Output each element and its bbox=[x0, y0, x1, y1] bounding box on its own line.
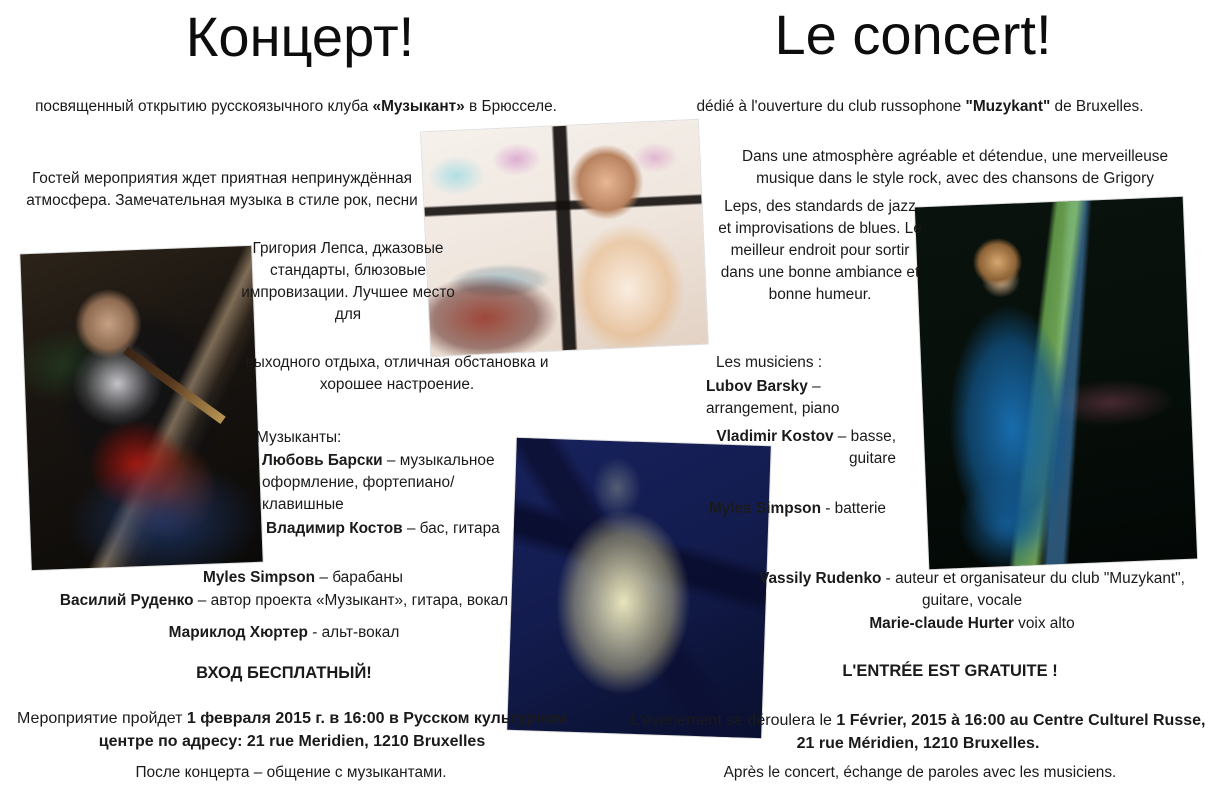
subtitle-french-prefix: dédié à l'ouverture du club russophone bbox=[696, 98, 965, 115]
musician-row-fr-4: Marie-claude Hurter voix alto bbox=[756, 613, 1188, 635]
subtitle-french-club: "Muzykant" bbox=[966, 98, 1051, 115]
musicians-heading-french: Les musiciens : bbox=[716, 352, 926, 374]
musician-name-ru-2: Myles Simpson bbox=[203, 569, 315, 586]
musician-row-ru-3: Василий Руденко – автор проекта «Музыкан… bbox=[6, 590, 562, 612]
pianist-photo bbox=[915, 197, 1197, 569]
musician-name-fr-2: Myles Simpson bbox=[709, 500, 821, 517]
concert-poster: Концерт! посвященный открытию русскоязыч… bbox=[0, 0, 1213, 798]
musician-name-ru-0: Любовь Барски bbox=[262, 452, 383, 469]
drummer-photo bbox=[421, 120, 708, 356]
musician-name-ru-4: Мариклод Хюртер bbox=[169, 624, 308, 641]
event-details-russian: Мероприятие пройдет 1 февраля 2015 г. в … bbox=[2, 708, 582, 753]
musician-role-ru-1: – бас, гитара bbox=[407, 520, 500, 537]
musician-role-ru-3: – автор проекта «Музыкант», гитара, вока… bbox=[194, 592, 509, 609]
musician-role-fr-3: - auteur et organisateur du club "Muzyka… bbox=[881, 570, 1185, 609]
musician-name-fr-4: Marie-claude Hurter bbox=[869, 615, 1014, 632]
musician-name-fr-1: Vladimir Kostov bbox=[716, 428, 833, 445]
musician-role-fr-4: voix alto bbox=[1014, 615, 1075, 632]
page-title-french: Le concert! bbox=[618, 6, 1208, 65]
free-entry-french: L'ENTRÉE EST GRATUITE ! bbox=[700, 660, 1200, 683]
musician-role-fr-1: – basse, guitare bbox=[834, 428, 896, 467]
musician-row-fr-1: Vladimir Kostov – basse, guitare bbox=[706, 426, 896, 470]
musician-row-ru-2: Myles Simpson – барабаны bbox=[88, 567, 518, 589]
subtitle-russian-suffix: в Брюсселе. bbox=[465, 98, 557, 115]
musician-row-ru-4: Мариклод Хюртер - альт-вокал bbox=[6, 622, 562, 644]
subtitle-russian: посвященный открытию русскоязычного клуб… bbox=[18, 96, 574, 118]
musician-row-ru-0: Любовь Барски – музыкальное оформление, … bbox=[262, 450, 520, 516]
intro-paragraph-french-2: Leps, des standards de jazz et improvisa… bbox=[716, 196, 924, 305]
blues-guitarist-photo bbox=[507, 438, 771, 738]
musician-name-ru-3: Василий Руденко bbox=[60, 592, 194, 609]
after-concert-french: Après le concert, échange de paroles ave… bbox=[640, 762, 1200, 784]
event-details-french: L'événement se déroulera le 1 Février, 2… bbox=[628, 710, 1208, 755]
subtitle-french: dédié à l'ouverture du club russophone "… bbox=[640, 96, 1200, 118]
musician-name-fr-3: Vassily Rudenko bbox=[759, 570, 881, 587]
musician-row-ru-1: Владимир Костов – бас, гитара bbox=[266, 518, 516, 540]
subtitle-french-suffix: de Bruxelles. bbox=[1050, 98, 1143, 115]
musician-row-fr-2: Myles Simpson - batterie bbox=[706, 498, 886, 520]
page-title-russian: Концерт! bbox=[0, 8, 600, 67]
musicians-heading-russian: Музыканты: bbox=[256, 427, 516, 449]
subtitle-russian-prefix: посвященный открытию русскоязычного клуб… bbox=[35, 98, 372, 115]
musician-role-ru-4: - альт-вокал bbox=[308, 624, 399, 641]
musician-name-ru-1: Владимир Костов bbox=[266, 520, 407, 537]
guitarist-photo bbox=[20, 246, 262, 570]
intro-paragraph-russian-2: Григория Лепса, джазовые стандарты, блюз… bbox=[232, 238, 464, 326]
intro-paragraph-russian-3: выходного отдыха, отличная обстановка и … bbox=[232, 352, 562, 396]
musician-role-ru-2: – барабаны bbox=[315, 569, 403, 586]
musician-row-fr-3: Vassily Rudenko - auteur et organisateur… bbox=[756, 568, 1188, 612]
musician-name-fr-0: Lubov Barsky bbox=[706, 378, 808, 395]
free-entry-russian: ВХОД БЕСПЛАТНЫЙ! bbox=[6, 662, 562, 685]
musician-role-fr-2: - batterie bbox=[821, 500, 886, 517]
subtitle-russian-club: «Музыкант» bbox=[373, 98, 465, 115]
after-concert-russian: После концерта – общение с музыкантами. bbox=[6, 762, 576, 784]
musician-row-fr-0: Lubov Barsky – arrangement, piano bbox=[706, 376, 916, 420]
event-details-french-bold: 1 Février, 2015 à 16:00 au Centre Cultur… bbox=[797, 712, 1206, 752]
intro-paragraph-french: Dans une atmosphère agréable et détendue… bbox=[712, 146, 1198, 190]
intro-paragraph-russian: Гостей мероприятия ждет приятная неприну… bbox=[6, 168, 438, 212]
event-details-russian-prefix: Мероприятие пройдет bbox=[17, 710, 187, 727]
event-details-french-prefix: L'événement se déroulera le bbox=[631, 712, 837, 729]
